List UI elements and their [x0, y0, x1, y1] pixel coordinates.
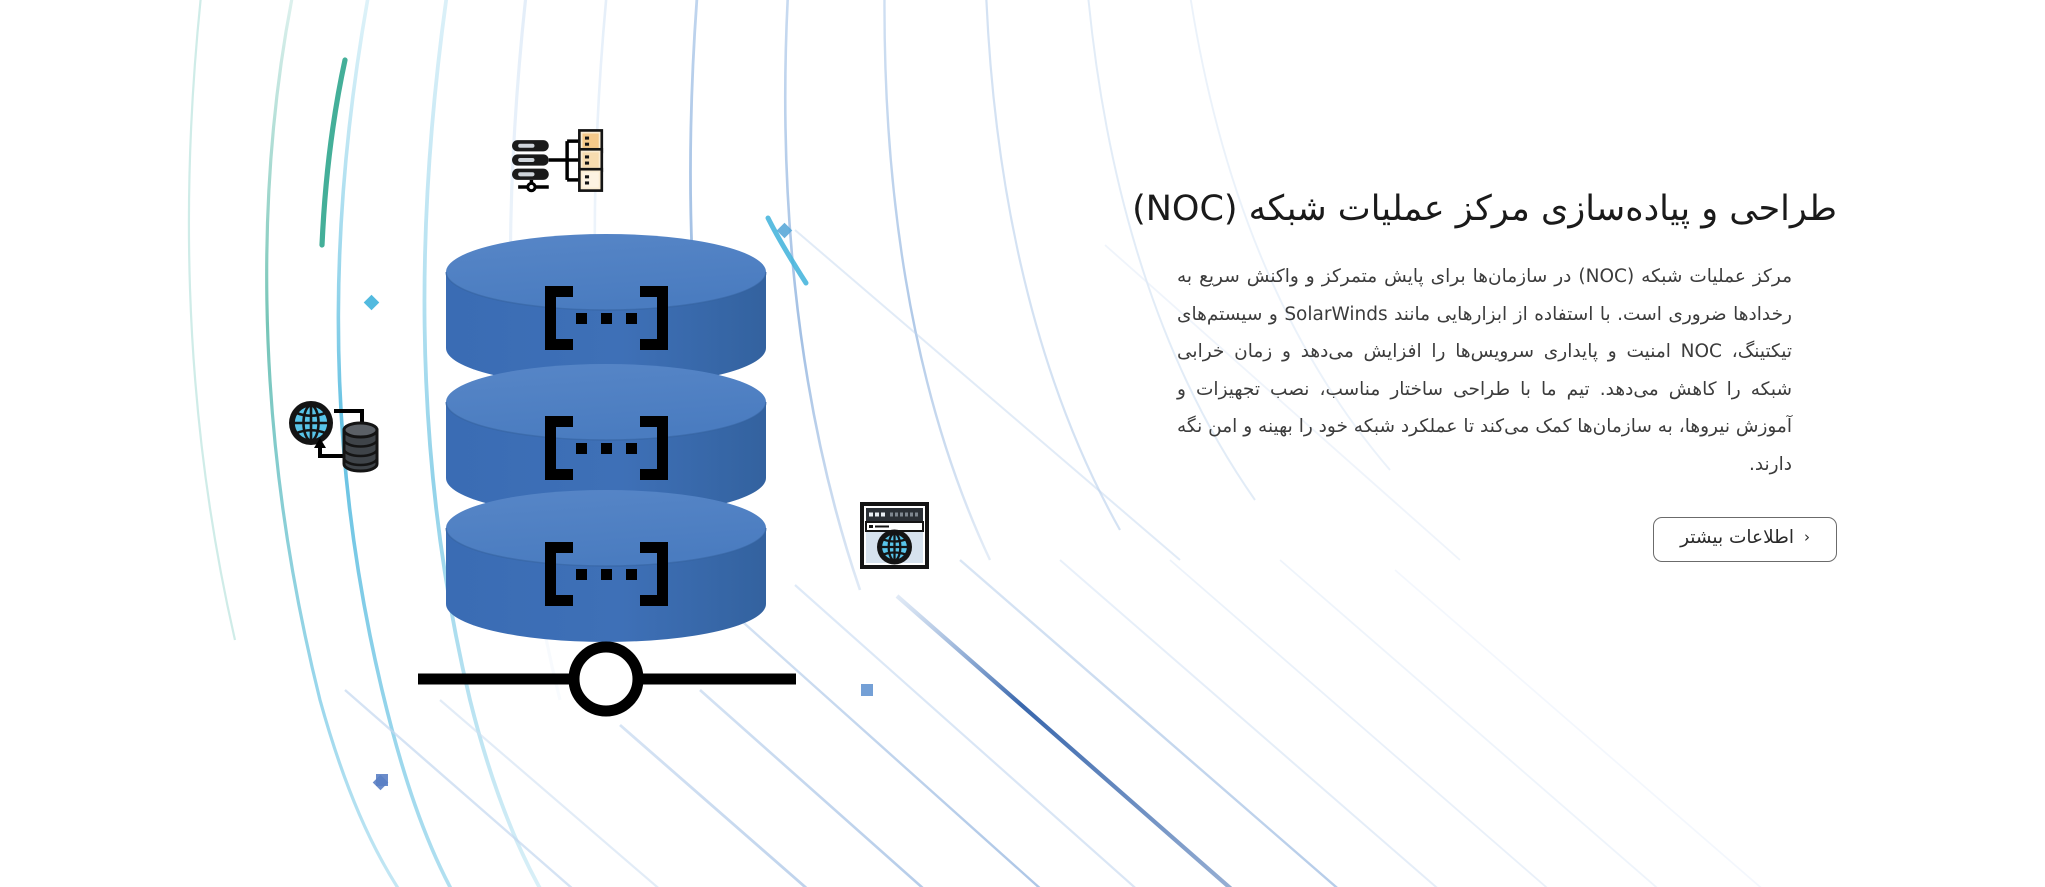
database-icon — [344, 423, 377, 471]
cta-row: ‹ اطلاعات بیشتر — [1177, 517, 1837, 562]
more-info-button-label: اطلاعات بیشتر — [1680, 529, 1794, 548]
network-bus-node — [418, 647, 796, 711]
globe-database-sync-icon — [289, 401, 377, 471]
sync-arrow-right — [336, 411, 362, 425]
page-title: طراحی و پیاده‌سازی مرکز عملیات شبکه (NOC… — [1177, 186, 1837, 232]
database-cylinder-stack — [446, 234, 766, 642]
scan-bracket-marks — [545, 286, 668, 350]
hero-section: طراحی و پیاده‌سازی مرکز عملیات شبکه (NOC… — [0, 0, 2045, 887]
body-paragraph: مرکز عملیات شبکه (NOC) در سازمان‌ها برای… — [1177, 258, 1792, 483]
scan-bracket-marks — [545, 542, 668, 606]
chevron-left-icon: ‹ — [1804, 530, 1810, 545]
more-info-button[interactable]: ‹ اطلاعات بیشتر — [1653, 517, 1837, 562]
database-cylinder-middle — [446, 364, 766, 516]
database-cylinder-bottom — [446, 490, 766, 642]
hero-text-column: طراحی و پیاده‌سازی مرکز عملیات شبکه (NOC… — [1177, 186, 1837, 562]
scan-bracket-marks — [545, 416, 668, 480]
server-rack-network-icon — [512, 130, 602, 190]
network-operations-center-illustration — [0, 0, 1050, 887]
sync-arrow-left — [320, 446, 346, 456]
database-cylinder-top — [446, 234, 766, 386]
browser-globe-icon — [862, 504, 927, 567]
globe-icon — [289, 401, 333, 445]
